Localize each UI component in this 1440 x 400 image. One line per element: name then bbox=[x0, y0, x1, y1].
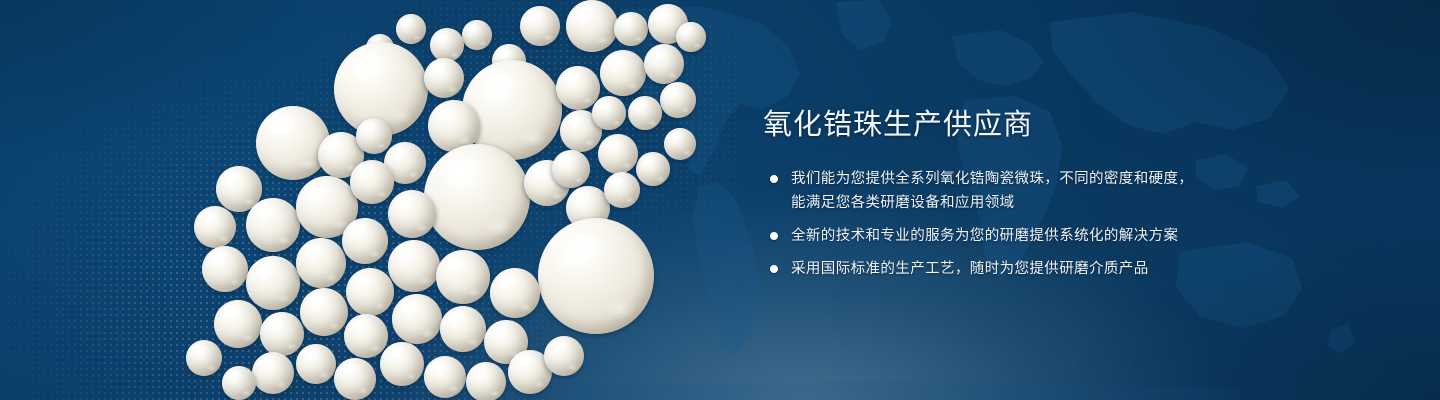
feature-list: 我们能为您提供全系列氧化锆陶瓷微珠，不同的密度和硬度， 能满足您各类研磨设备和应… bbox=[763, 167, 1283, 281]
list-item-line: 我们能为您提供全系列氧化锆陶瓷微珠，不同的密度和硬度， bbox=[791, 167, 1283, 191]
list-item: 我们能为您提供全系列氧化锆陶瓷微珠，不同的密度和硬度， 能满足您各类研磨设备和应… bbox=[763, 167, 1283, 215]
page-title: 氧化锆珠生产供应商 bbox=[763, 108, 1283, 142]
list-item: 采用国际标准的生产工艺，随时为您提供研磨介质产品 bbox=[763, 257, 1283, 281]
list-item: 全新的技术和专业的服务为您的研磨提供系统化的解决方案 bbox=[763, 224, 1283, 248]
hero-banner: 氧化锆珠生产供应商 我们能为您提供全系列氧化锆陶瓷微珠，不同的密度和硬度， 能满… bbox=[0, 0, 1440, 400]
bullet-dot-icon bbox=[770, 175, 778, 183]
list-item-line: 能满足您各类研磨设备和应用领域 bbox=[791, 191, 1283, 215]
zirconia-beads-image bbox=[0, 0, 760, 400]
bullet-dot-icon bbox=[770, 265, 778, 273]
bullet-dot-icon bbox=[770, 232, 778, 240]
list-item-line: 采用国际标准的生产工艺，随时为您提供研磨介质产品 bbox=[791, 257, 1283, 281]
list-item-line: 全新的技术和专业的服务为您的研磨提供系统化的解决方案 bbox=[791, 224, 1283, 248]
banner-copy: 氧化锆珠生产供应商 我们能为您提供全系列氧化锆陶瓷微珠，不同的密度和硬度， 能满… bbox=[763, 108, 1283, 281]
